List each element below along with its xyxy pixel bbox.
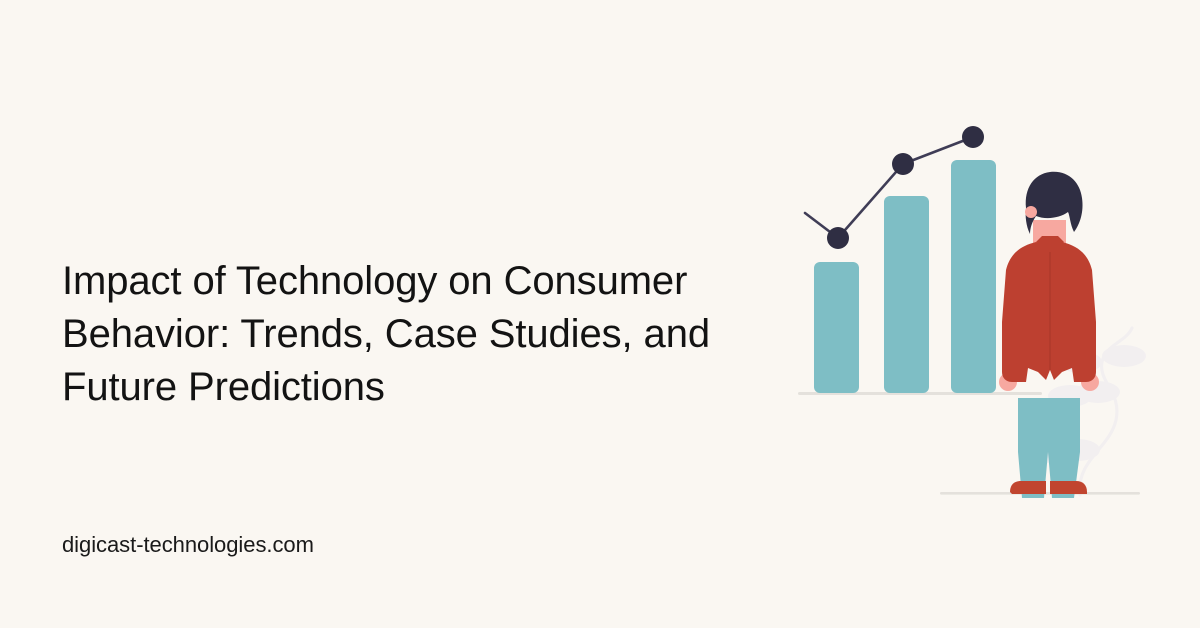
person-ear	[1025, 206, 1037, 218]
trend-marker-2	[892, 153, 914, 175]
shoe-left	[1010, 481, 1046, 494]
social-share-card: Impact of Technology on Consumer Behavio…	[0, 0, 1200, 628]
page-title: Impact of Technology on Consumer Behavio…	[62, 255, 762, 414]
bar-2	[884, 196, 929, 393]
bar-3	[951, 160, 996, 393]
trend-marker-3	[962, 126, 984, 148]
site-url-label: digicast-technologies.com	[62, 531, 314, 559]
shoe-right	[1050, 481, 1087, 494]
bar-1	[814, 262, 859, 393]
person-jacket	[1002, 242, 1096, 382]
illustration-person-viewing-bar-chart	[780, 100, 1180, 520]
bar-group	[814, 160, 996, 393]
trend-marker-1	[827, 227, 849, 249]
